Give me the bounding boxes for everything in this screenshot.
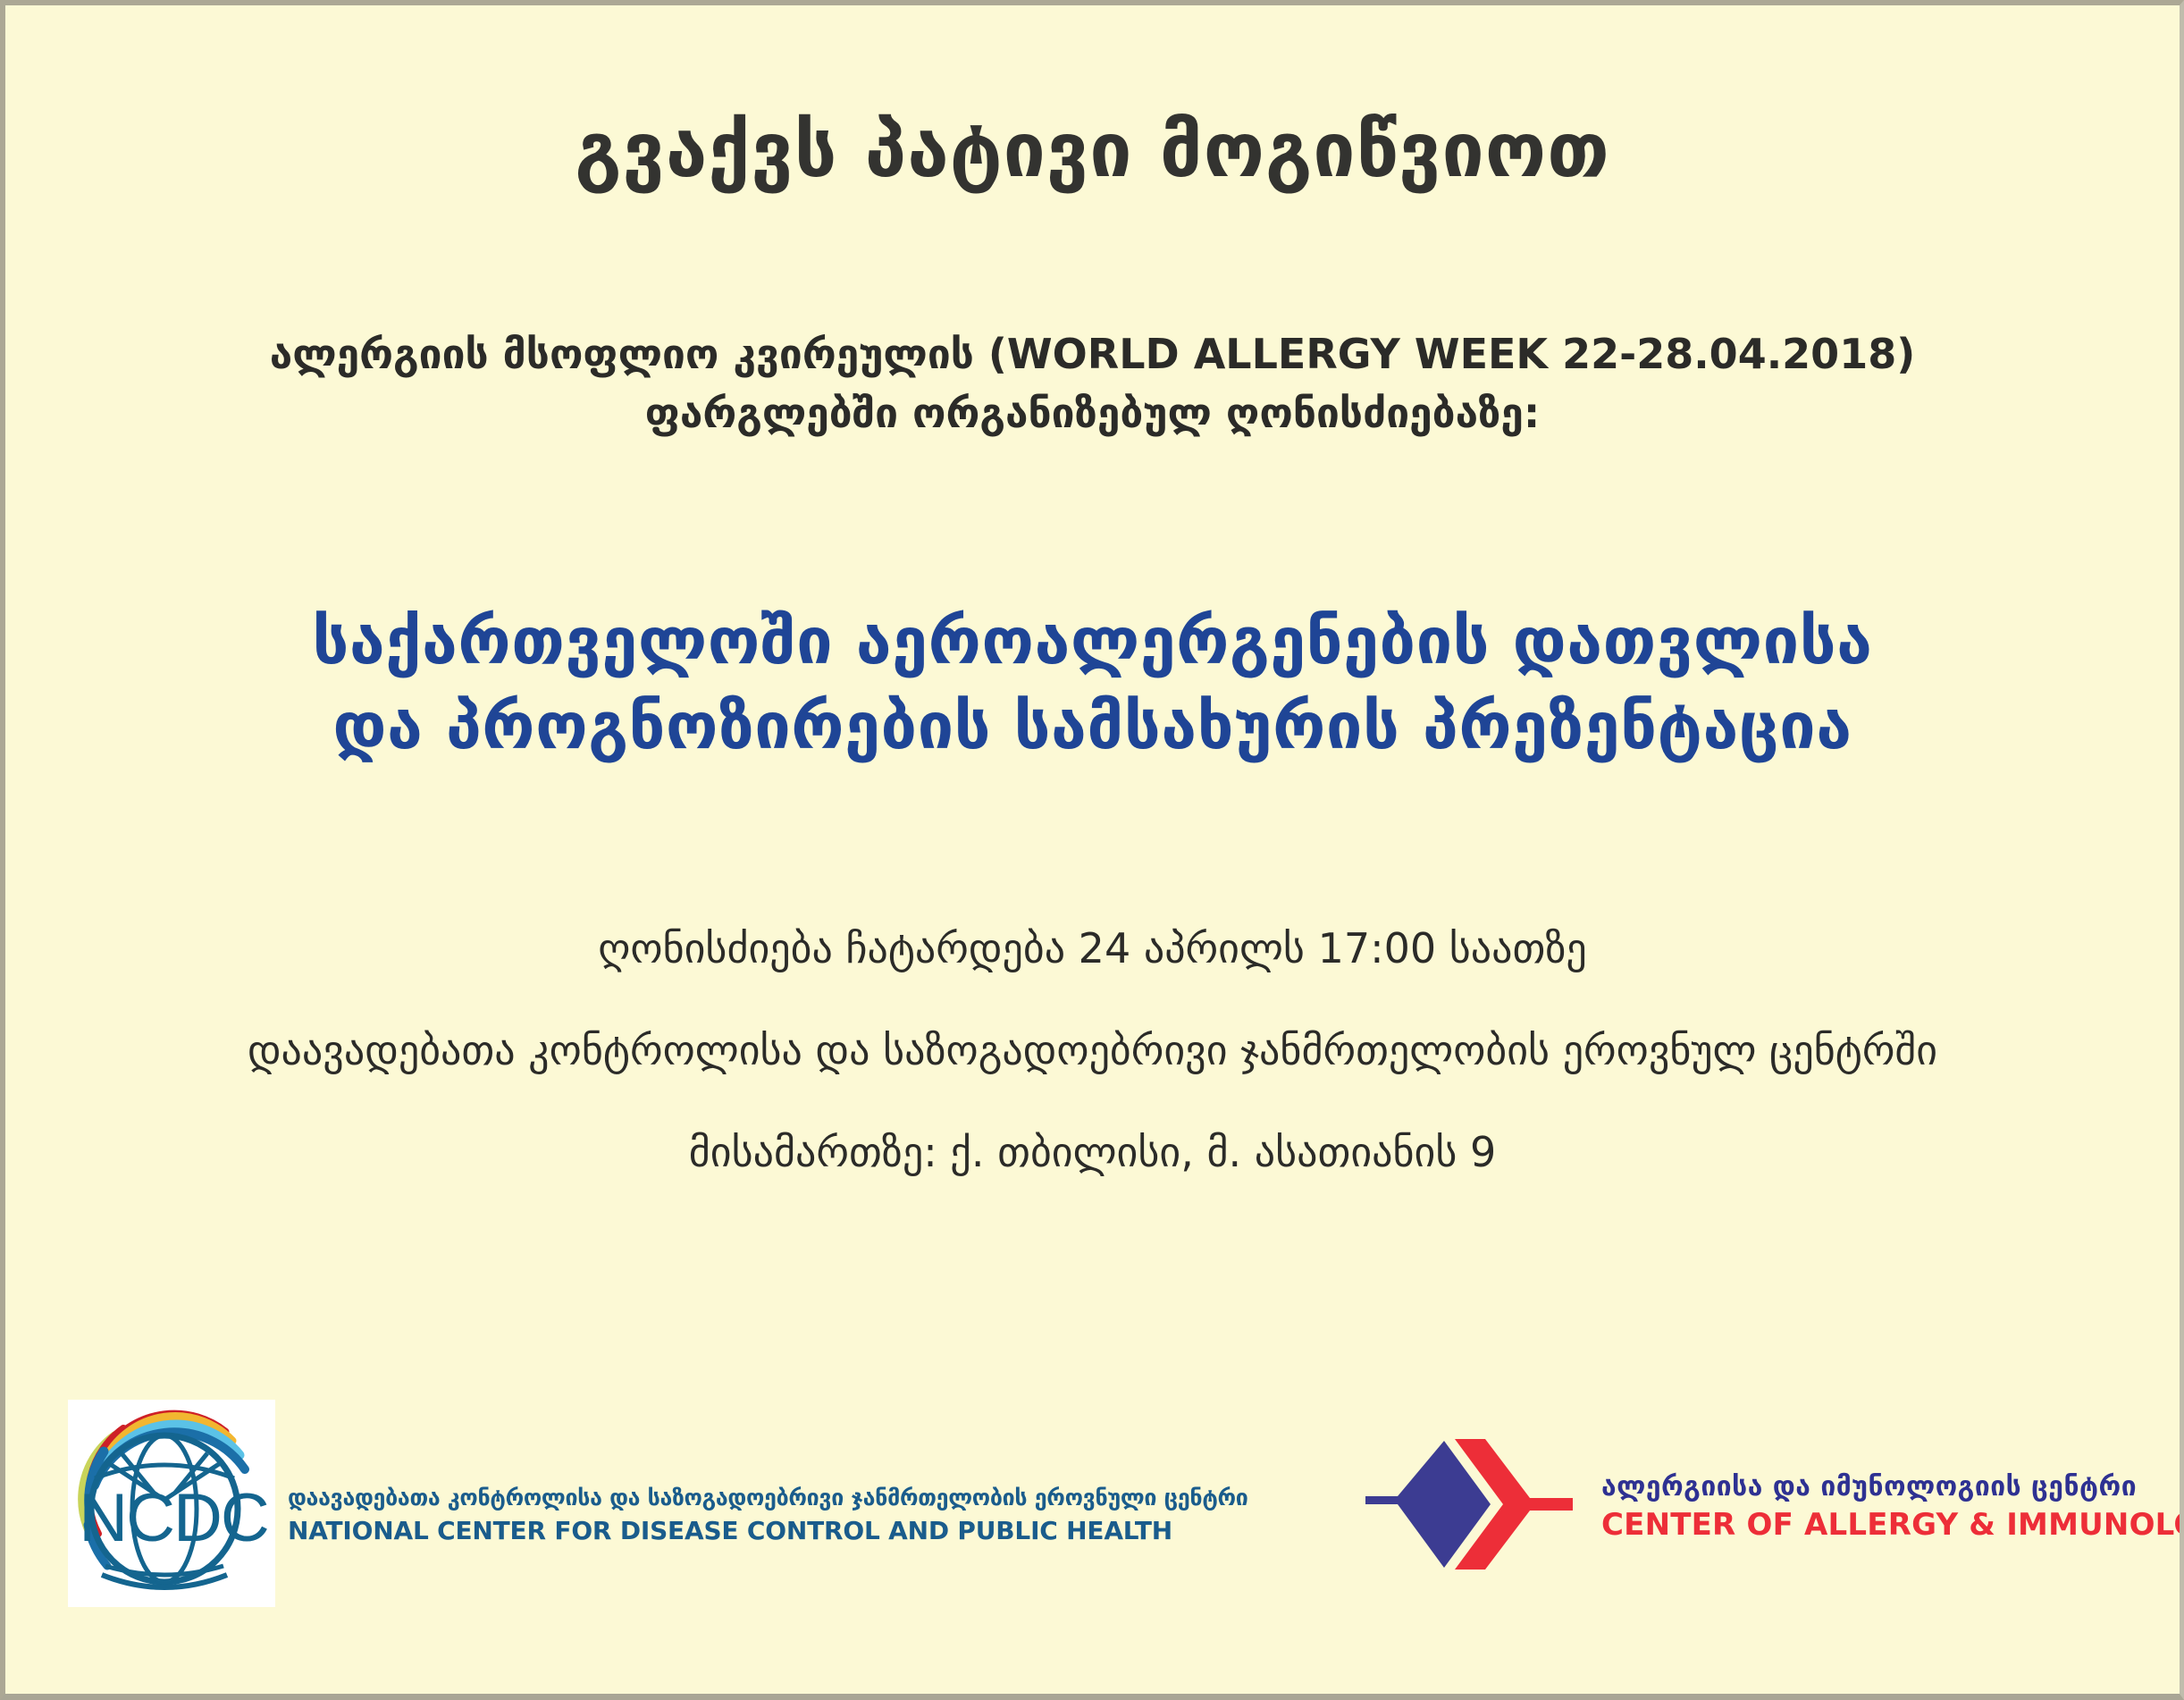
invitation-poster: გვაქვს პატივი მოგიწვიოთ ალერგიის მსოფლიო… [0, 0, 2184, 1700]
event-heading-line-2: და პროგნოზირების სამსახურის პრეზენტაცია [5, 684, 2180, 769]
allergy-name-block: ალერგიისა და იმუნოლოგიის ცენტრი CENTER O… [1601, 1469, 2184, 1544]
ncdc-branding: NCDC დაავადებათა კონტროლისა და საზოგადოე… [68, 1400, 1248, 1607]
allergy-name-ka: ალერგიისა და იმუნოლოგიის ცენტრი [1601, 1469, 2184, 1506]
footer-logos: NCDC დაავადებათა კონტროლისა და საზოგადოე… [5, 1387, 2180, 1700]
event-address: მისამართზე: ქ. თბილისი, მ. ასათიანის 9 [5, 1132, 2180, 1173]
ncdc-name-block: დაავადებათა კონტროლისა და საზოგადოებრივი… [288, 1483, 1248, 1549]
allergy-name-en: CENTER OF ALLERGY & IMMUNOLOGY [1601, 1506, 2184, 1544]
ncdc-name-ka: დაავადებათა კონტროლისა და საზოგადოებრივი… [288, 1483, 1248, 1513]
event-venue: დაავადებათა კონტროლისა და საზოგადოებრივი… [5, 1030, 2180, 1071]
ncdc-name-en: NATIONAL CENTER FOR DISEASE CONTROL AND … [288, 1513, 1248, 1550]
page-title: გვაქვს პატივი მოგიწვიოთ [5, 109, 2180, 191]
event-details: ღონისძიება ჩატარდება 24 აპრილს 17:00 საა… [5, 928, 2180, 1173]
allergy-diamond-arrow-logo-icon [1355, 1428, 1596, 1580]
poster-content: გვაქვს პატივი მოგიწვიოთ ალერგიის მსოფლიო… [5, 5, 2180, 1694]
ncdc-globe-logo-icon: NCDC [68, 1400, 275, 1607]
event-datetime: ღონისძიება ჩატარდება 24 აპრილს 17:00 საა… [5, 928, 2180, 969]
subtitle-line-2: ფარგლებში ორგანიზებულ ღონისძიებაზე: [5, 384, 2180, 442]
subtitle-block: ალერგიის მსოფლიო კვირეულის (WORLD ALLERG… [5, 325, 2180, 442]
event-heading: საქართველოში აეროალერგენების დათვლისა და… [5, 599, 2180, 769]
title-block: გვაქვს პატივი მოგიწვიოთ [5, 109, 2180, 191]
allergy-center-branding: ალერგიისა და იმუნოლოგიის ცენტრი CENTER O… [1355, 1428, 2184, 1580]
svg-text:NCDC: NCDC [79, 1480, 268, 1556]
subtitle-line-1: ალერგიის მსოფლიო კვირეულის (WORLD ALLERG… [5, 325, 2180, 383]
event-heading-line-1: საქართველოში აეროალერგენების დათვლისა [5, 599, 2180, 684]
